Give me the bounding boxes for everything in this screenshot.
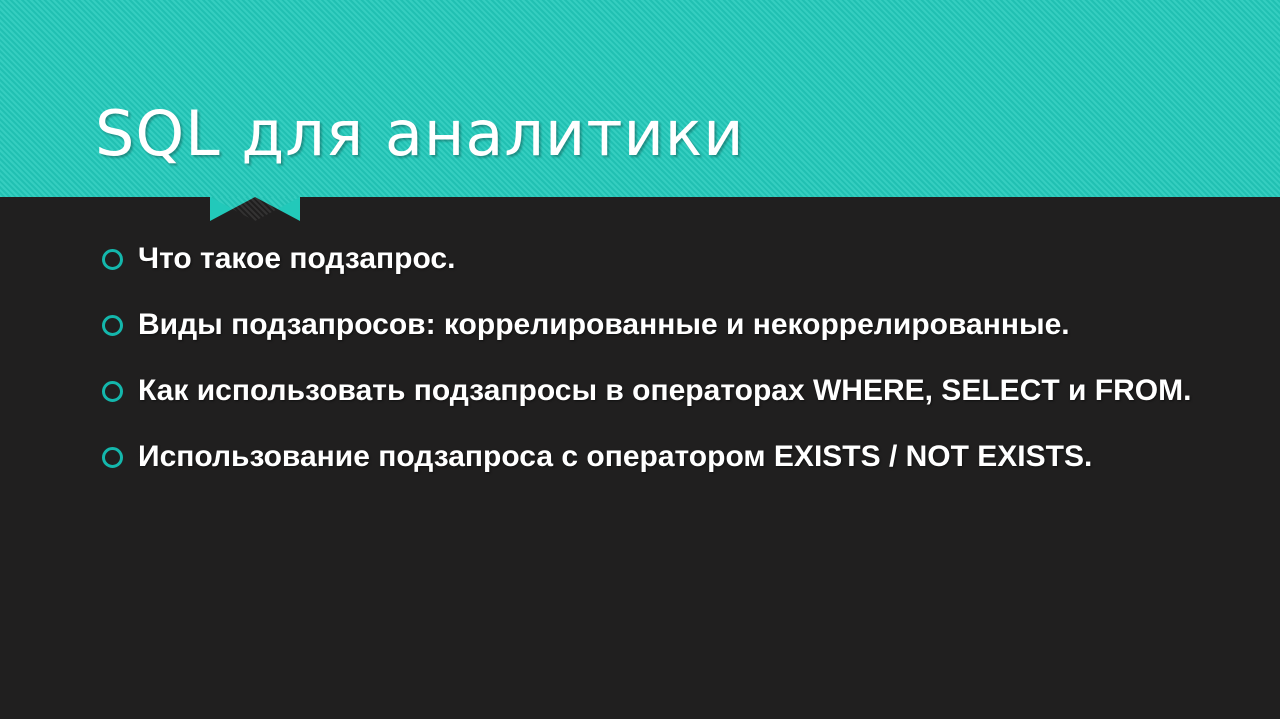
bullet-list: Что такое подзапрос. Виды подзапросов: к… [100,234,1210,482]
ring-bullet-icon [102,249,123,270]
presentation-slide: SQL для аналитики Что такое подзапрос. В… [0,0,1280,719]
bullet-item-label: Как использовать подзапросы в операторах… [138,366,1210,416]
bullet-item-3: Как использовать подзапросы в операторах… [100,366,1210,416]
slide-title: SQL для аналитики [95,99,1215,168]
slide-header-banner: SQL для аналитики [0,0,1280,197]
bullet-item-4: Использование подзапроса с оператором EX… [100,432,1210,482]
bullet-item-label: Что такое подзапрос. [138,234,1210,284]
slide-body: Что такое подзапрос. Виды подзапросов: к… [0,197,1280,719]
bullet-item-2: Виды подзапросов: коррелированные и неко… [100,300,1210,350]
bullet-item-label: Виды подзапросов: коррелированные и неко… [138,300,1210,350]
bullet-item-label: Использование подзапроса с оператором EX… [138,432,1210,482]
bullet-item-1: Что такое подзапрос. [100,234,1210,284]
ring-bullet-icon [102,447,123,468]
ring-bullet-icon [102,381,123,402]
ring-bullet-icon [102,315,123,336]
